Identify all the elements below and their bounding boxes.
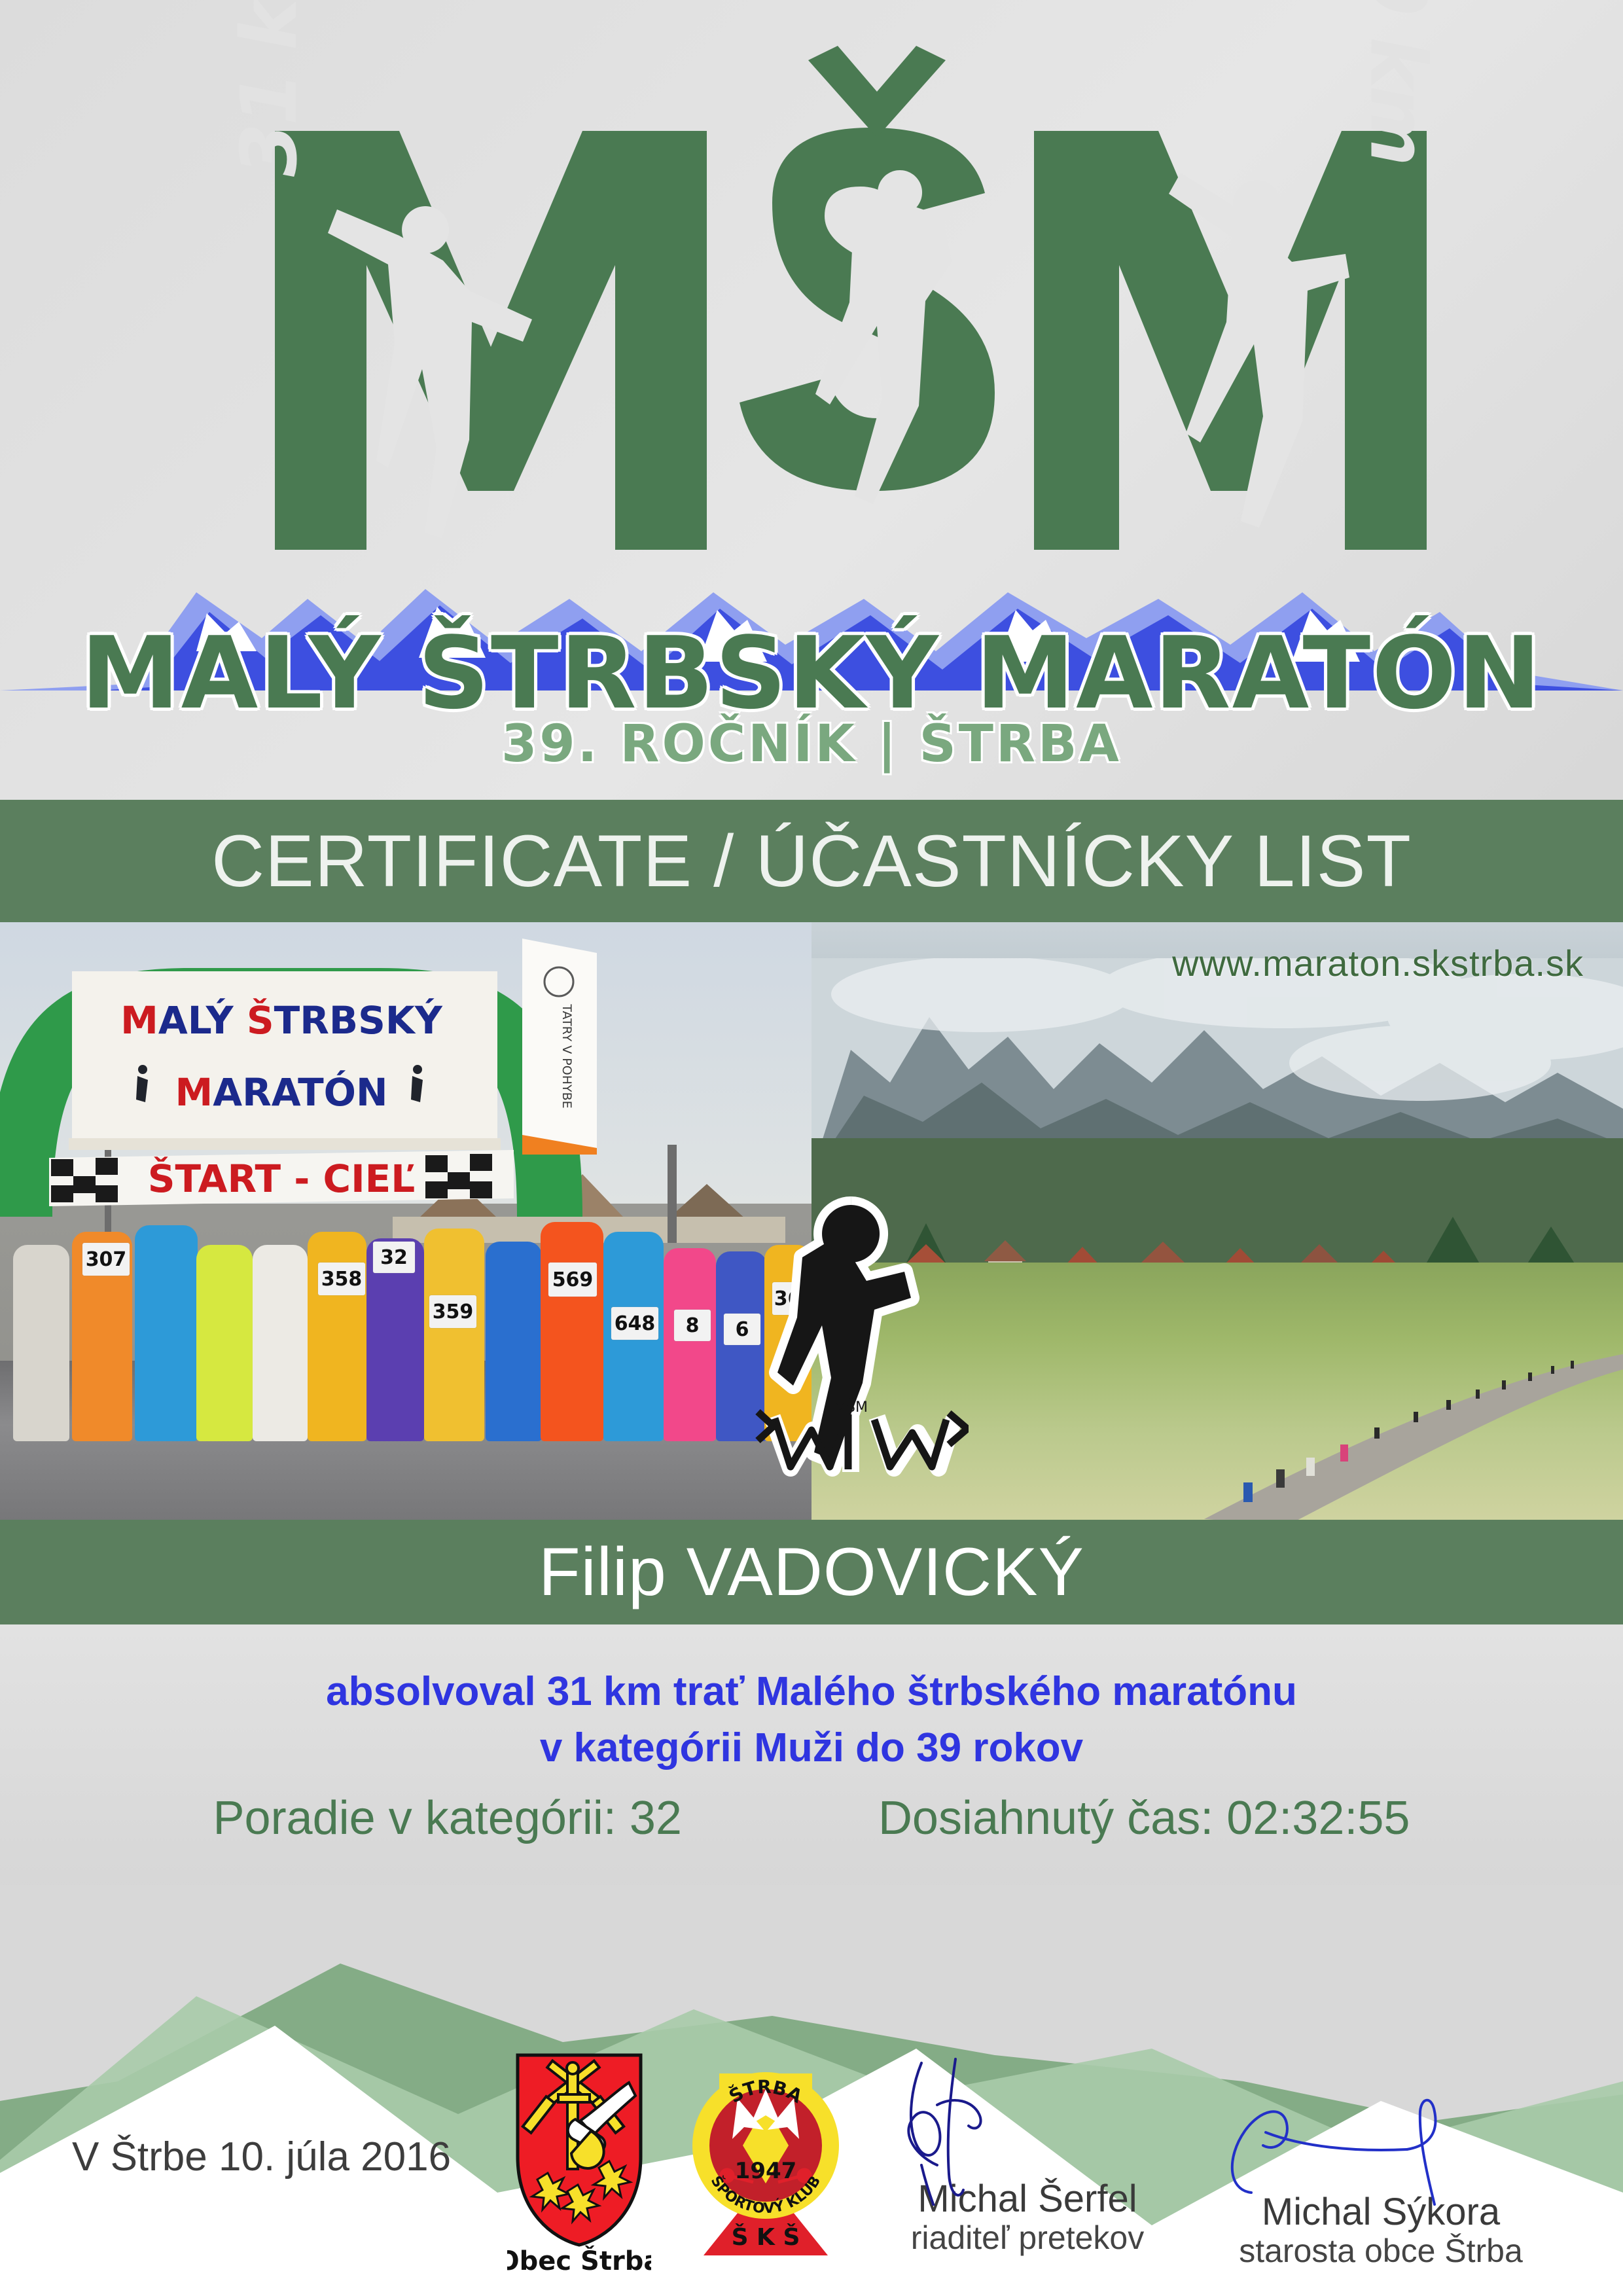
description-line-1: absolvoval 31 km trať Malého štrbského m… [0, 1664, 1623, 1720]
bib-number: 32 [373, 1242, 415, 1273]
hero-logo-area: 31 km 10 km MALÝ ŠTRBSKÝ MARATÓN 39. ROČ… [0, 0, 1623, 795]
certificate-heading-band: CERTIFICATE / ÚČASTNÍCKY LIST [0, 800, 1623, 922]
bib-number: 307 [82, 1243, 130, 1276]
bib-number: 359 [429, 1295, 476, 1328]
msm-runner-badge: MŠM [753, 1184, 969, 1485]
signature-block-mayor: Michal Sýkora starosta obce Štrba [1198, 2193, 1564, 2270]
event-subtitle: 39. ROČNÍK | ŠTRBA [0, 715, 1623, 774]
svg-text:TATRY V POHYBE: TATRY V POHYBE [560, 1003, 574, 1108]
event-title: MALÝ ŠTRBSKÝ MARATÓN [0, 615, 1623, 731]
sks-club-logo: 1947 ŠTRBA ŠPORTOVÝ KLUB Š K Š [690, 2047, 841, 2270]
category-rank: Poradie v kategórii: 32 [213, 1791, 682, 1845]
start-line-photo: MALÝ ŠTRBSKÝ MARATÓN [0, 922, 811, 1520]
athlete-description: absolvoval 31 km trať Malého štrbského m… [0, 1664, 1623, 1776]
tatry-v-pohybe-flag: TATRY V POHYBE [517, 939, 602, 1155]
photo-strip: MALÝ ŠTRBSKÝ MARATÓN [0, 922, 1623, 1520]
issue-date: V Štrbe 10. júla 2016 [72, 2134, 451, 2180]
bib-number: 569 [548, 1263, 597, 1297]
signature-role: starosta obce Štrba [1198, 2233, 1564, 2270]
club-bottom-text: Š K Š [732, 2223, 800, 2251]
distance-left-label: 31 km [224, 0, 314, 177]
msm-logo: 31 km 10 km [183, 39, 1440, 615]
club-year: 1947 [735, 2158, 797, 2184]
bib-number: 8 [674, 1310, 711, 1341]
result-details: absolvoval 31 km trať Malého štrbského m… [0, 1624, 1623, 1899]
svg-text:MARATÓN: MARATÓN [175, 1069, 387, 1115]
msm-badge-label: MŠM [834, 1399, 868, 1416]
athlete-name-band: Filip VADOVICKÝ [0, 1520, 1623, 1624]
athlete-name: Filip VADOVICKÝ [539, 1534, 1084, 1611]
signature-role: riaditeľ pretekov [844, 2219, 1211, 2257]
obec-strba-crest: Obec Štrba [507, 2049, 651, 2278]
distance-right-label: 10 km [1353, 0, 1444, 164]
crest-caption: Obec Štrba [507, 2245, 651, 2276]
bib-number: 358 [318, 1263, 365, 1295]
runner-crowd: 307 358 32 359 569 648 8 6 360 [0, 1164, 811, 1520]
race-trail [1178, 1341, 1623, 1520]
footer: V Štrbe 10. júla 2016 [0, 2055, 1623, 2296]
msm-letters [183, 39, 1440, 550]
signature-ink [844, 2055, 1211, 2206]
svg-text:MALÝ ŠTRBSKÝ: MALÝ ŠTRBSKÝ [120, 997, 443, 1043]
certificate-page: 31 km 10 km MALÝ ŠTRBSKÝ MARATÓN 39. ROČ… [0, 0, 1623, 2296]
certificate-heading: CERTIFICATE / ÚČASTNÍCKY LIST [211, 819, 1412, 903]
bib-number: 648 [611, 1307, 658, 1340]
signature-block-director: Michal Šerfel riaditeľ pretekov [844, 2179, 1211, 2257]
finish-time: Dosiahnutý čas: 02:32:55 [878, 1791, 1410, 1845]
website-url[interactable]: www.maraton.skstrba.sk [1172, 942, 1584, 984]
result-row: Poradie v kategórii: 32 Dosiahnutý čas: … [0, 1791, 1623, 1845]
signature-ink [1198, 2068, 1564, 2219]
description-line-2: v kategórii Muži do 39 rokov [0, 1720, 1623, 1776]
